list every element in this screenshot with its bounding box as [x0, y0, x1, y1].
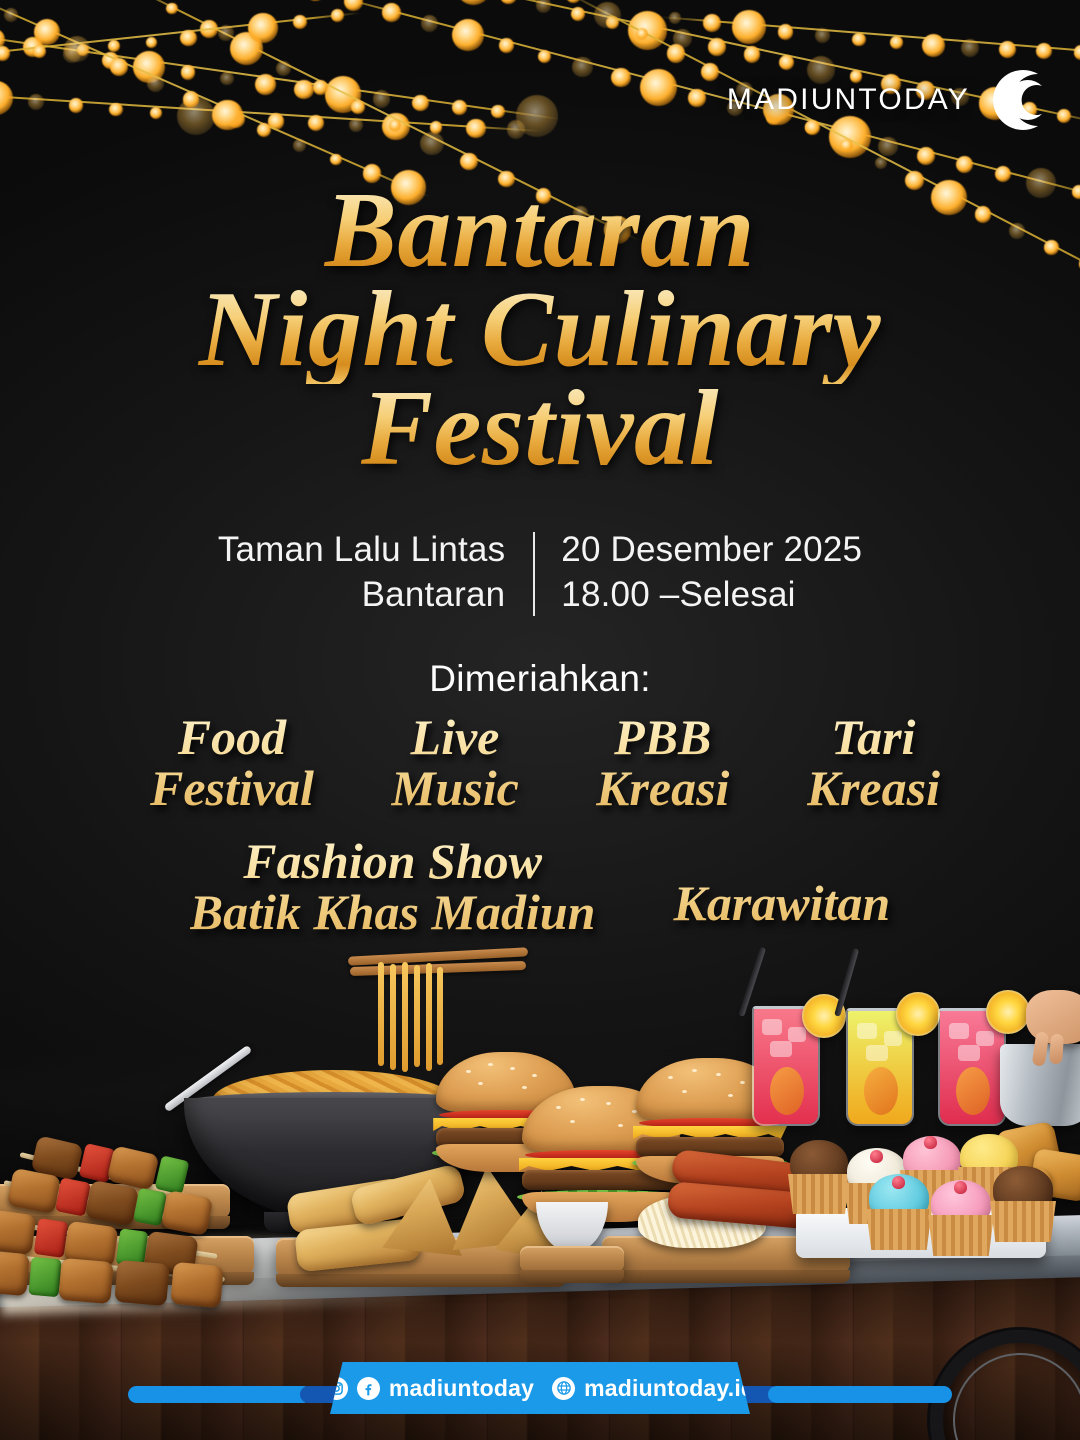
- bar-segment-right-outer: [768, 1386, 952, 1403]
- sauce-board: [520, 1246, 624, 1272]
- cupcake-blue: [866, 1174, 932, 1250]
- lemon-slice: [986, 990, 1030, 1034]
- light-bulb: [571, 7, 585, 21]
- light-bulb: [744, 46, 760, 62]
- page-title: Bantaran Night Culinary Festival: [0, 178, 1080, 483]
- light-bulb: [382, 3, 400, 21]
- facebook-icon[interactable]: [357, 1377, 380, 1400]
- light-bulb: [917, 147, 935, 165]
- cupcake-liner: [788, 1174, 850, 1214]
- light-bulb: [611, 68, 631, 88]
- light-bulb: [220, 72, 234, 86]
- venue-line-1: Taman Lalu Lintas: [218, 528, 505, 573]
- light-bulb: [703, 14, 721, 32]
- light-bulb: [146, 37, 157, 48]
- light-bulb: [4, 8, 18, 22]
- light-bulb: [276, 61, 292, 77]
- light-bulb: [430, 121, 443, 134]
- lineup-item-line-1: Tari: [807, 712, 940, 763]
- light-bulb: [594, 2, 621, 29]
- lineup-item-fashion-show: Fashion Show Batik Khas Madiun: [190, 836, 596, 938]
- light-bulb: [227, 110, 245, 128]
- light-bulb: [69, 98, 84, 113]
- light-bulb: [456, 0, 491, 5]
- globe-icon[interactable]: [552, 1377, 575, 1400]
- light-bulb: [373, 90, 390, 107]
- light-bulb: [166, 3, 178, 15]
- light-bulb: [890, 36, 903, 49]
- circular-swoosh-icon: [976, 62, 1052, 138]
- light-bulb: [28, 94, 44, 110]
- light-bulb: [421, 15, 438, 32]
- light-bulb: [293, 139, 306, 152]
- lineup-item-tari-kreasi: Tari Kreasi: [807, 712, 940, 814]
- light-bulb: [230, 32, 263, 65]
- light-bulb: [606, 16, 619, 29]
- light-bulb: [852, 33, 866, 47]
- cupcake-chocolate: [788, 1140, 850, 1214]
- title-line-1: Bantaran: [0, 178, 1080, 285]
- light-bulb: [507, 120, 525, 138]
- light-bulb: [349, 118, 364, 133]
- lineup-item-food-festival: Food Festival: [150, 712, 314, 814]
- light-bulb: [255, 74, 276, 95]
- light-bulb: [0, 81, 13, 115]
- light-wire: [0, 30, 560, 120]
- lineup-item-line-2: Kreasi: [807, 763, 940, 814]
- light-bulb: [875, 157, 887, 169]
- lineup-item-karawitan: Karawitan: [673, 836, 890, 929]
- light-bulb: [669, 12, 681, 24]
- light-bulb: [961, 39, 979, 57]
- lemon-slice: [896, 992, 940, 1036]
- light-bulb: [500, 0, 516, 4]
- light-bulb: [77, 44, 89, 56]
- cupcake-liner: [928, 1215, 994, 1256]
- social-handles-plate: madiuntoday madiuntoday.id: [330, 1362, 750, 1414]
- light-bulb: [108, 40, 120, 52]
- light-bulb: [257, 123, 271, 137]
- light-bulb: [248, 13, 278, 43]
- lineup-item-live-music: Live Music: [391, 712, 519, 814]
- light-bulb: [308, 115, 324, 131]
- raspberry: [870, 1150, 883, 1163]
- light-bulb: [452, 100, 467, 115]
- light-bulb: [460, 153, 478, 171]
- light-bulb: [325, 76, 362, 113]
- light-bulb: [109, 103, 123, 117]
- light-bulb: [330, 154, 342, 166]
- light-bulb: [956, 156, 973, 173]
- light-bulb: [351, 100, 365, 114]
- light-wire: [660, 16, 1080, 56]
- event-details: Taman Lalu Lintas Bantaran 20 Desember 2…: [0, 528, 1080, 618]
- light-bulb: [701, 63, 719, 81]
- title-line-2: Night Culinary: [0, 277, 1080, 384]
- light-bulb: [815, 28, 830, 43]
- bar-segment-left-outer: [128, 1386, 312, 1403]
- light-bulb: [778, 24, 794, 40]
- lineup-item-line-2: Festival: [150, 763, 314, 814]
- light-bulb: [452, 19, 484, 51]
- light-bulb: [102, 52, 119, 69]
- light-bulb: [732, 10, 766, 44]
- lineup-item-line-2: Music: [391, 763, 519, 814]
- light-bulb: [34, 19, 60, 45]
- cupcake-chocolate-2: [990, 1166, 1056, 1242]
- lineup-row-2: Fashion Show Batik Khas Madiun Karawitan: [0, 836, 1080, 938]
- light-bulb: [180, 30, 197, 47]
- light-bulb: [294, 80, 314, 100]
- light-bulb: [64, 36, 90, 62]
- light-bulb: [922, 34, 945, 57]
- light-bulb: [344, 0, 364, 11]
- light-bulb: [33, 45, 47, 59]
- venue-line-2: Bantaran: [218, 573, 505, 618]
- light-bulb: [1057, 109, 1071, 123]
- logo-wordmark: MADIUNTODAY: [727, 83, 970, 117]
- light-bulb: [313, 80, 328, 95]
- light-bulb: [200, 20, 218, 38]
- light-bulb: [177, 97, 215, 135]
- lineup-item-pbb-kreasi: PBB Kreasi: [596, 712, 729, 814]
- light-bulb: [1036, 43, 1052, 59]
- light-bulb: [538, 50, 552, 64]
- light-bulb: [331, 9, 344, 22]
- social-handle[interactable]: madiuntoday: [389, 1375, 534, 1402]
- light-bulb: [305, 0, 326, 1]
- light-bulb: [878, 137, 898, 157]
- event-date: 20 Desember 2025: [561, 528, 862, 573]
- lineup-heading: Dimeriahkan:: [0, 658, 1080, 700]
- raspberry: [924, 1136, 937, 1149]
- lineup-item-line-1: Food: [150, 712, 314, 763]
- light-bulb: [491, 105, 505, 119]
- light-wire: [0, 12, 360, 58]
- light-bulb: [181, 65, 196, 80]
- light-bulb: [412, 95, 428, 111]
- light-bulb: [133, 51, 165, 83]
- lineup-row-1: Food Festival Live Music PBB Kreasi Tari…: [150, 712, 940, 814]
- light-bulb: [499, 38, 514, 53]
- light-bulb: [466, 119, 485, 138]
- lineup-item-line-1: Live: [391, 712, 519, 763]
- lineup-item-line-1: Fashion Show: [190, 836, 596, 887]
- raspberry: [954, 1181, 967, 1194]
- light-bulb: [673, 29, 692, 48]
- lineup-item-line-1: PBB: [596, 712, 729, 763]
- light-bulb: [212, 100, 242, 130]
- light-bulb: [566, 0, 580, 3]
- light-bulb: [23, 37, 43, 57]
- light-bulb: [382, 113, 409, 140]
- brand-logo: MADIUNTODAY: [727, 62, 1052, 138]
- light-bulb: [516, 95, 558, 137]
- light-bulb: [1074, 45, 1080, 60]
- light-bulb: [628, 11, 668, 51]
- light-bulb: [999, 41, 1016, 58]
- light-bulb: [147, 75, 164, 92]
- light-bulb: [183, 91, 199, 107]
- title-line-3: Festival: [0, 376, 1080, 483]
- lineup-item-line-2: Kreasi: [596, 763, 729, 814]
- light-bulb: [293, 15, 307, 29]
- light-bulb: [389, 119, 402, 132]
- website-handle[interactable]: madiuntoday.id: [584, 1375, 755, 1402]
- light-wire: [0, 0, 430, 198]
- cupcake-liner: [866, 1209, 932, 1250]
- light-bulb: [420, 132, 443, 155]
- cupcake-pink-2: [928, 1180, 994, 1256]
- social-footer-bar: madiuntoday madiuntoday.id: [0, 1366, 1080, 1424]
- light-bulb: [667, 44, 686, 63]
- light-wire: [0, 92, 540, 132]
- light-bulb: [218, 25, 234, 41]
- lineup-item-line-2: Batik Khas Madiun: [190, 887, 596, 938]
- light-bulb: [0, 29, 5, 50]
- event-poster: MADIUNTODAY Bantaran Night Culinary Fest…: [0, 0, 1080, 1440]
- finger: [1049, 1034, 1064, 1065]
- cupcake-liner: [990, 1201, 1056, 1242]
- light-bulb: [0, 46, 10, 61]
- datetime-block: 20 Desember 2025 18.00 –Selesai: [535, 528, 862, 618]
- light-bulb: [110, 58, 128, 76]
- light-bulb: [840, 139, 853, 152]
- light-bulb: [536, 0, 551, 13]
- light-bulb: [708, 38, 726, 56]
- venue-block: Taman Lalu Lintas Bantaran: [218, 528, 533, 618]
- light-bulb: [688, 89, 705, 106]
- light-bulb: [636, 28, 648, 40]
- event-time: 18.00 –Selesai: [561, 573, 862, 618]
- light-bulb: [268, 113, 285, 130]
- light-bulb: [63, 44, 81, 62]
- light-bulb: [640, 69, 677, 106]
- light-bulb: [150, 107, 163, 120]
- raspberry: [892, 1176, 905, 1189]
- light-bulb: [572, 57, 593, 78]
